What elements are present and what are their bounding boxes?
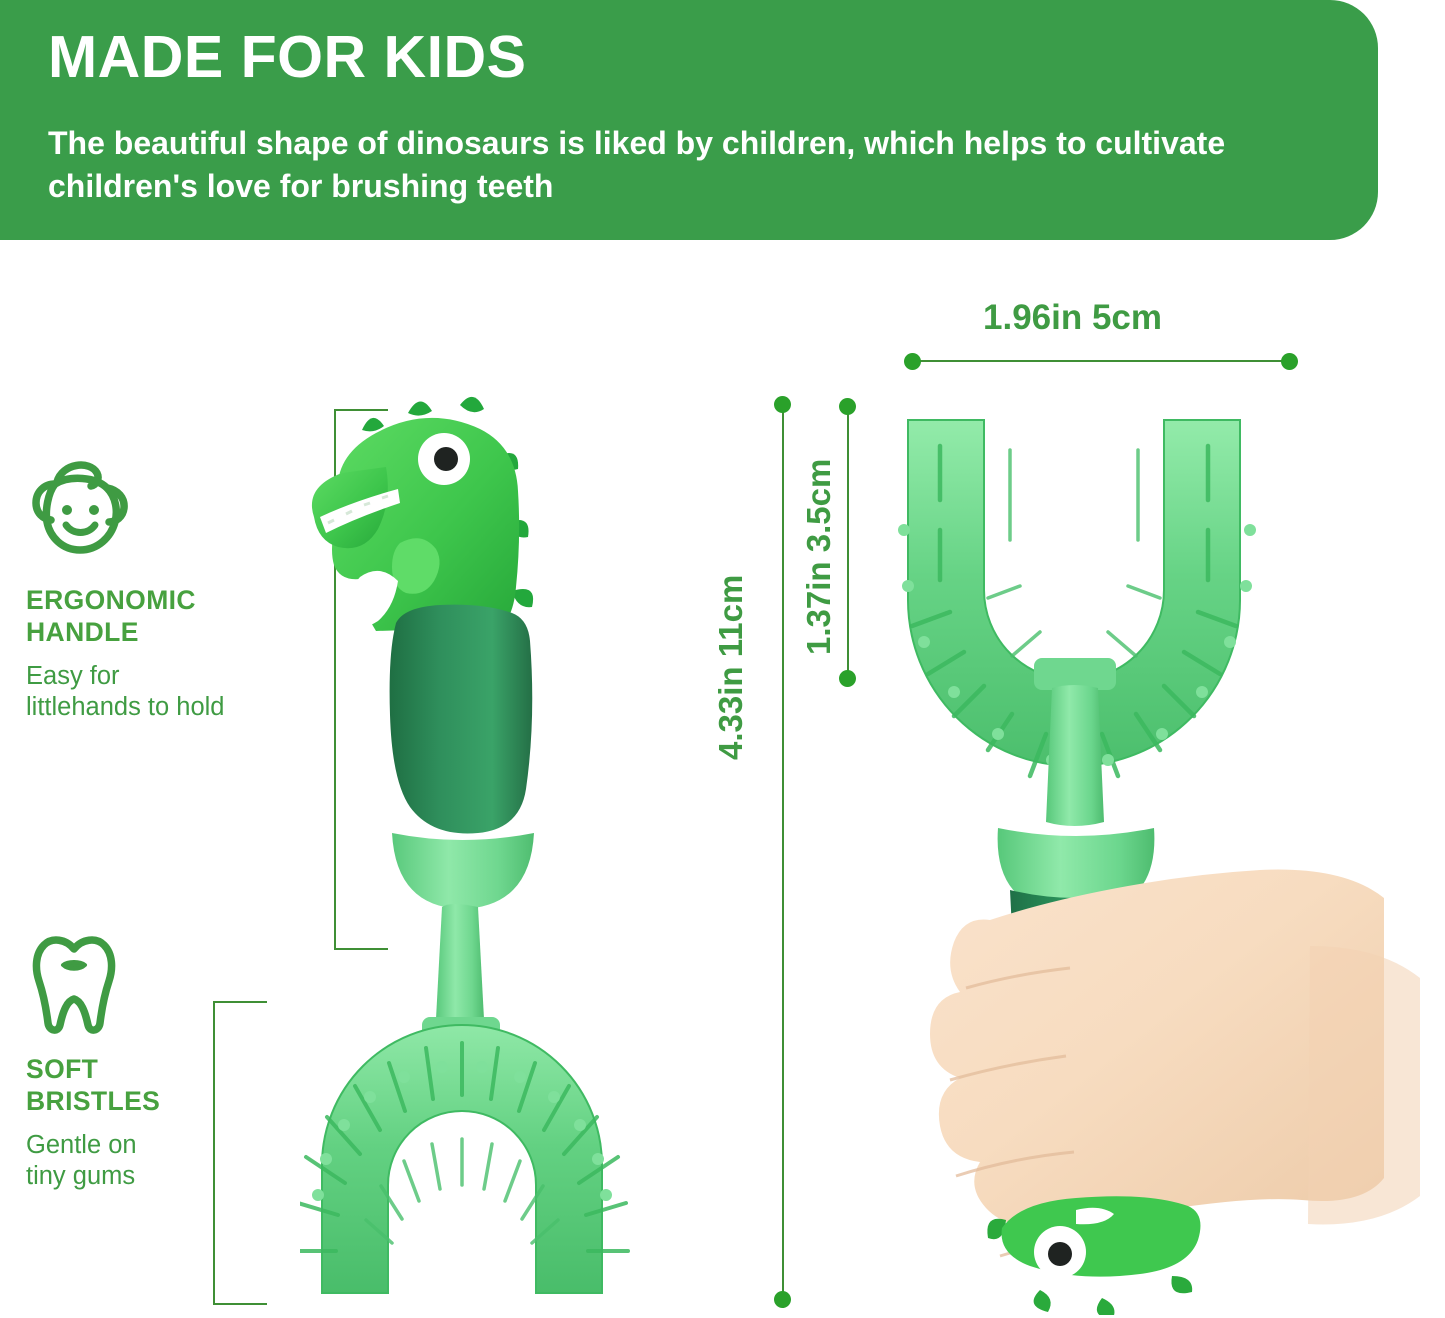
- product-image-full-toothbrush: [300, 395, 720, 1310]
- feature-title: ERGONOMIC HANDLE: [26, 584, 326, 649]
- header-banner: MADE FOR KIDS The beautiful shape of din…: [0, 0, 1378, 240]
- dimension-dot: [839, 670, 856, 687]
- dimension-label-head-height: 1.37in 3.5cm: [800, 459, 838, 655]
- handle-collar: [392, 833, 534, 909]
- dinosaur-figure: [312, 397, 533, 631]
- feature-description: Easy for littlehands to hold: [26, 661, 326, 724]
- dimension-dot: [774, 1291, 791, 1308]
- dimension-dot: [774, 396, 791, 413]
- dimension-dot: [839, 398, 856, 415]
- handle-body: [390, 605, 533, 834]
- dimension-dot: [1281, 353, 1298, 370]
- bracket-bristles-callout: [213, 1001, 267, 1305]
- feature-ergonomic-handle: ERGONOMIC HANDLE Easy for littlehands to…: [26, 455, 326, 724]
- baby-face-icon: [26, 455, 136, 570]
- banner-title: MADE FOR KIDS: [48, 28, 527, 87]
- product-image-hand-holding-toothbrush: [880, 390, 1440, 1315]
- tooth-icon: [26, 935, 122, 1039]
- child-hand: [930, 870, 1420, 1256]
- dimension-line-width: [912, 360, 1290, 362]
- brush-neck: [1046, 685, 1104, 826]
- u-shaped-brush-head: [300, 1025, 628, 1293]
- dinosaur-figure-bottom: [987, 1196, 1200, 1315]
- brush-neck: [436, 904, 484, 1023]
- dimension-line-head-height: [847, 404, 849, 681]
- dimension-dot: [904, 353, 921, 370]
- dimension-line-total-length: [782, 400, 784, 1308]
- dimension-label-total-length: 4.33in 11cm: [712, 575, 750, 760]
- banner-subtitle: The beautiful shape of dinosaurs is like…: [48, 122, 1278, 207]
- dimension-label-width: 1.96in 5cm: [983, 298, 1162, 338]
